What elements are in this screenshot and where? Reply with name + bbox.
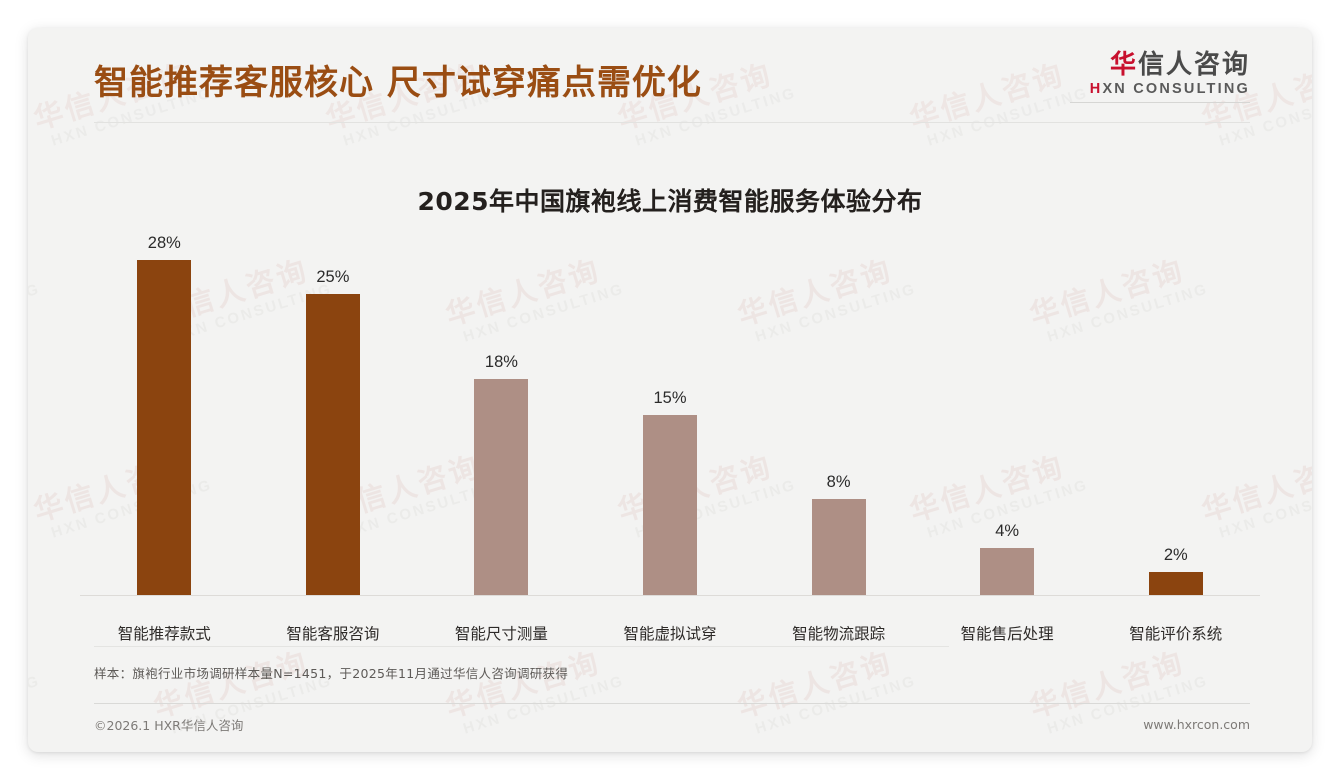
bar-slot: 4%智能售后处理 xyxy=(923,234,1092,596)
logo-accent-char: 华 xyxy=(1110,50,1138,80)
watermark-english: HXN CONSULTING xyxy=(28,672,42,737)
bar-rect[interactable] xyxy=(643,415,697,596)
bar-rect[interactable] xyxy=(474,379,528,596)
bar-value-label: 15% xyxy=(654,389,687,408)
footnote-block: 样本：旗袍行业市场调研样本量N=1451，于2025年11月通过华信人咨询调研获… xyxy=(94,646,1250,682)
logo-chinese-text: 华信人咨询 xyxy=(1070,52,1250,79)
bar-value-label: 25% xyxy=(316,268,349,287)
bar-slot: 25%智能客服咨询 xyxy=(249,234,418,596)
bar-rect[interactable] xyxy=(306,294,360,596)
bar-category-label: 智能虚拟试穿 xyxy=(624,622,717,644)
logo-underline xyxy=(1070,102,1250,103)
slide-footer: ©2026.1 HXR华信人咨询 www.hxrcon.com xyxy=(94,703,1250,734)
page-title: 智能推荐客服核心 尺寸试穿痛点需优化 xyxy=(94,55,702,104)
bar-rect[interactable] xyxy=(980,548,1034,596)
header-divider xyxy=(94,122,1250,123)
bar-value-label: 18% xyxy=(485,353,518,372)
slide-header: 智能推荐客服核心 尺寸试穿痛点需优化 华信人咨询 HXN CONSULTING xyxy=(28,28,1312,124)
bar-category-label: 智能物流跟踪 xyxy=(792,622,885,644)
website-url[interactable]: www.hxrcon.com xyxy=(1143,717,1250,732)
chart-title: 2025年中国旗袍线上消费智能服务体验分布 xyxy=(28,182,1312,218)
x-axis-line xyxy=(80,595,1260,596)
bar-value-label: 28% xyxy=(148,234,181,253)
footnote-text: 样本：旗袍行业市场调研样本量N=1451，于2025年11月通过华信人咨询调研获… xyxy=(94,663,1250,682)
bar-rect[interactable] xyxy=(137,260,191,596)
company-logo: 华信人咨询 HXN CONSULTING xyxy=(1070,52,1250,103)
bar-slot: 18%智能尺寸测量 xyxy=(417,234,586,596)
logo-english-text: HXN CONSULTING xyxy=(1070,81,1250,97)
footer-row: ©2026.1 HXR华信人咨询 www.hxrcon.com xyxy=(94,715,1250,734)
bar-category-label: 智能评价系统 xyxy=(1129,622,1222,644)
bar-slot: 2%智能评价系统 xyxy=(1091,234,1260,596)
footnote-divider xyxy=(94,646,949,647)
footer-divider xyxy=(94,703,1250,704)
chart-plot-area: 28%智能推荐款式25%智能客服咨询18%智能尺寸测量15%智能虚拟试穿8%智能… xyxy=(80,234,1260,666)
slide-canvas: 华信人咨询HXN CONSULTING华信人咨询HXN CONSULTING华信… xyxy=(28,28,1312,752)
bar-series: 28%智能推荐款式25%智能客服咨询18%智能尺寸测量15%智能虚拟试穿8%智能… xyxy=(80,234,1260,596)
logo-rest-chars: 信人咨询 xyxy=(1138,50,1250,80)
bar-category-label: 智能售后处理 xyxy=(961,622,1054,644)
bar-rect[interactable] xyxy=(812,499,866,596)
bar-category-label: 智能客服咨询 xyxy=(286,622,379,644)
logo-en-rest: XN CONSULTING xyxy=(1102,81,1250,97)
logo-en-accent: H xyxy=(1090,81,1103,97)
copyright-text: ©2026.1 HXR华信人咨询 xyxy=(94,715,243,734)
bar-rect[interactable] xyxy=(1149,572,1203,596)
chart-container: 2025年中国旗袍线上消费智能服务体验分布 28%智能推荐款式25%智能客服咨询… xyxy=(28,124,1312,656)
bar-slot: 28%智能推荐款式 xyxy=(80,234,249,596)
bar-slot: 8%智能物流跟踪 xyxy=(754,234,923,596)
bar-category-label: 智能尺寸测量 xyxy=(455,622,548,644)
bar-value-label: 8% xyxy=(827,473,851,492)
bar-value-label: 4% xyxy=(995,522,1019,541)
bar-value-label: 2% xyxy=(1164,546,1188,565)
bar-category-label: 智能推荐款式 xyxy=(118,622,211,644)
bar-slot: 15%智能虚拟试穿 xyxy=(586,234,755,596)
